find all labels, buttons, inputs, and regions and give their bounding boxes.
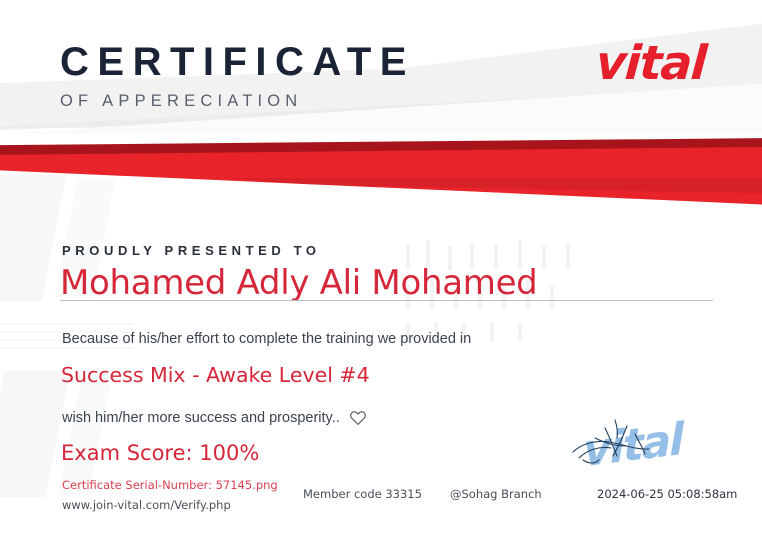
certificate-title: CERTIFICATE <box>60 42 415 82</box>
course-name: Success Mix - Awake Level #4 <box>61 363 370 387</box>
certificate-document: CERTIFICATE OF APPERECIATION vital PROUD… <box>0 0 762 539</box>
handwritten-signature-icon <box>565 416 720 494</box>
member-code: Member code 33315 <box>303 487 422 501</box>
presented-to-label: PROUDLY PRESENTED TO <box>62 243 321 258</box>
heart-outline-icon <box>349 409 367 427</box>
vital-brand-logo: vital <box>595 40 708 87</box>
verify-url[interactable]: www.join-vital.com/Verify.php <box>62 498 231 512</box>
body-text-line-1: Because of his/her effort to complete th… <box>62 331 471 347</box>
exam-score: Exam Score: 100% <box>61 441 259 465</box>
red-band-dark-edge <box>0 138 762 198</box>
body-text-line-2: wish him/her more success and prosperity… <box>62 410 340 426</box>
red-band <box>0 140 762 208</box>
certificate-subtitle: OF APPERECIATION <box>60 92 415 111</box>
branch-name: @Sohag Branch <box>450 487 542 501</box>
certificate-title-block: CERTIFICATE OF APPERECIATION <box>60 42 415 111</box>
official-stamp: vital <box>565 416 720 494</box>
certificate-serial-number: Certificate Serial-Number: 57145.png <box>62 478 278 492</box>
red-band-shadow <box>0 178 762 204</box>
recipient-name: Mohamed Adly Ali Mohamed <box>60 263 537 303</box>
recipient-name-underline <box>60 300 713 301</box>
